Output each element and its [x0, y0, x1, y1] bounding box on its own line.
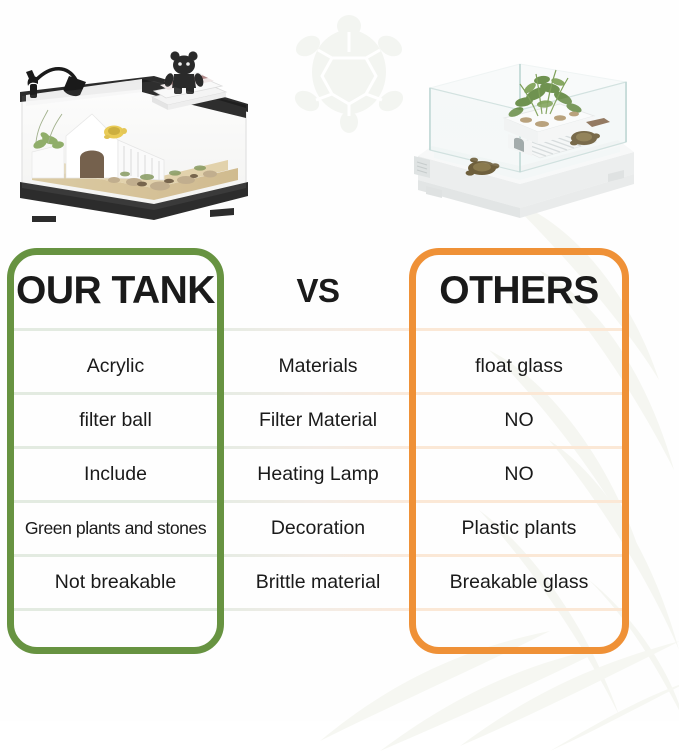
header-separator-left: [14, 328, 220, 331]
table-row: Not breakable Brittle material Breakable…: [0, 556, 679, 608]
row-4-other-value: Plastic plants: [412, 502, 626, 554]
row-separator-mid: [222, 500, 410, 503]
table-row: Green plants and stones Decoration Plast…: [0, 502, 679, 554]
row-3-other-value: NO: [412, 448, 626, 500]
table-row: Include Heating Lamp NO: [0, 448, 679, 500]
row-4-our-value: Green plants and stones: [10, 502, 221, 554]
table-header-row: OUR TANK VS OTHERS: [0, 260, 679, 322]
row-separator-mid: [222, 554, 410, 557]
row-5-our-value: Not breakable: [10, 556, 221, 608]
row-separator-mid: [222, 446, 410, 449]
row-2-label: Filter Material: [231, 394, 405, 446]
comparison-section: OUR TANK VS OTHERS Acrylic Materials flo…: [0, 240, 679, 660]
header-our-tank: OUR TANK: [10, 260, 221, 322]
row-3-label: Heating Lamp: [231, 448, 405, 500]
header-separator-right: [412, 328, 626, 331]
header-others: OTHERS: [412, 260, 626, 322]
row-separator-right: [412, 608, 626, 611]
row-separator-mid: [222, 608, 410, 611]
row-5-other-value: Breakable glass: [412, 556, 626, 608]
other-tank-photo: [408, 52, 644, 224]
row-5-label: Brittle material: [231, 556, 405, 608]
row-2-our-value: filter ball: [10, 394, 221, 446]
row-separator-mid: [222, 392, 410, 395]
row-separator-left: [14, 392, 220, 395]
row-1-other-value: float glass: [412, 340, 626, 392]
row-3-our-value: Include: [10, 448, 221, 500]
product-photo-row: [0, 0, 679, 240]
row-separator-right: [412, 446, 626, 449]
row-separator-right: [412, 554, 626, 557]
row-2-other-value: NO: [412, 394, 626, 446]
row-1-label: Materials: [231, 340, 405, 392]
row-1-our-value: Acrylic: [10, 340, 221, 392]
row-4-label: Decoration: [231, 502, 405, 554]
our-tank-photo: [14, 48, 254, 223]
table-row: filter ball Filter Material NO: [0, 394, 679, 446]
row-separator-left: [14, 446, 220, 449]
row-separator-left: [14, 554, 220, 557]
table-row: Acrylic Materials float glass: [0, 340, 679, 392]
row-separator-left: [14, 608, 220, 611]
header-separator-mid: [222, 328, 410, 331]
row-separator-left: [14, 500, 220, 503]
row-separator-right: [412, 392, 626, 395]
row-separator-right: [412, 500, 626, 503]
header-vs: VS: [231, 260, 405, 322]
comparison-table: OUR TANK VS OTHERS Acrylic Materials flo…: [0, 240, 679, 660]
